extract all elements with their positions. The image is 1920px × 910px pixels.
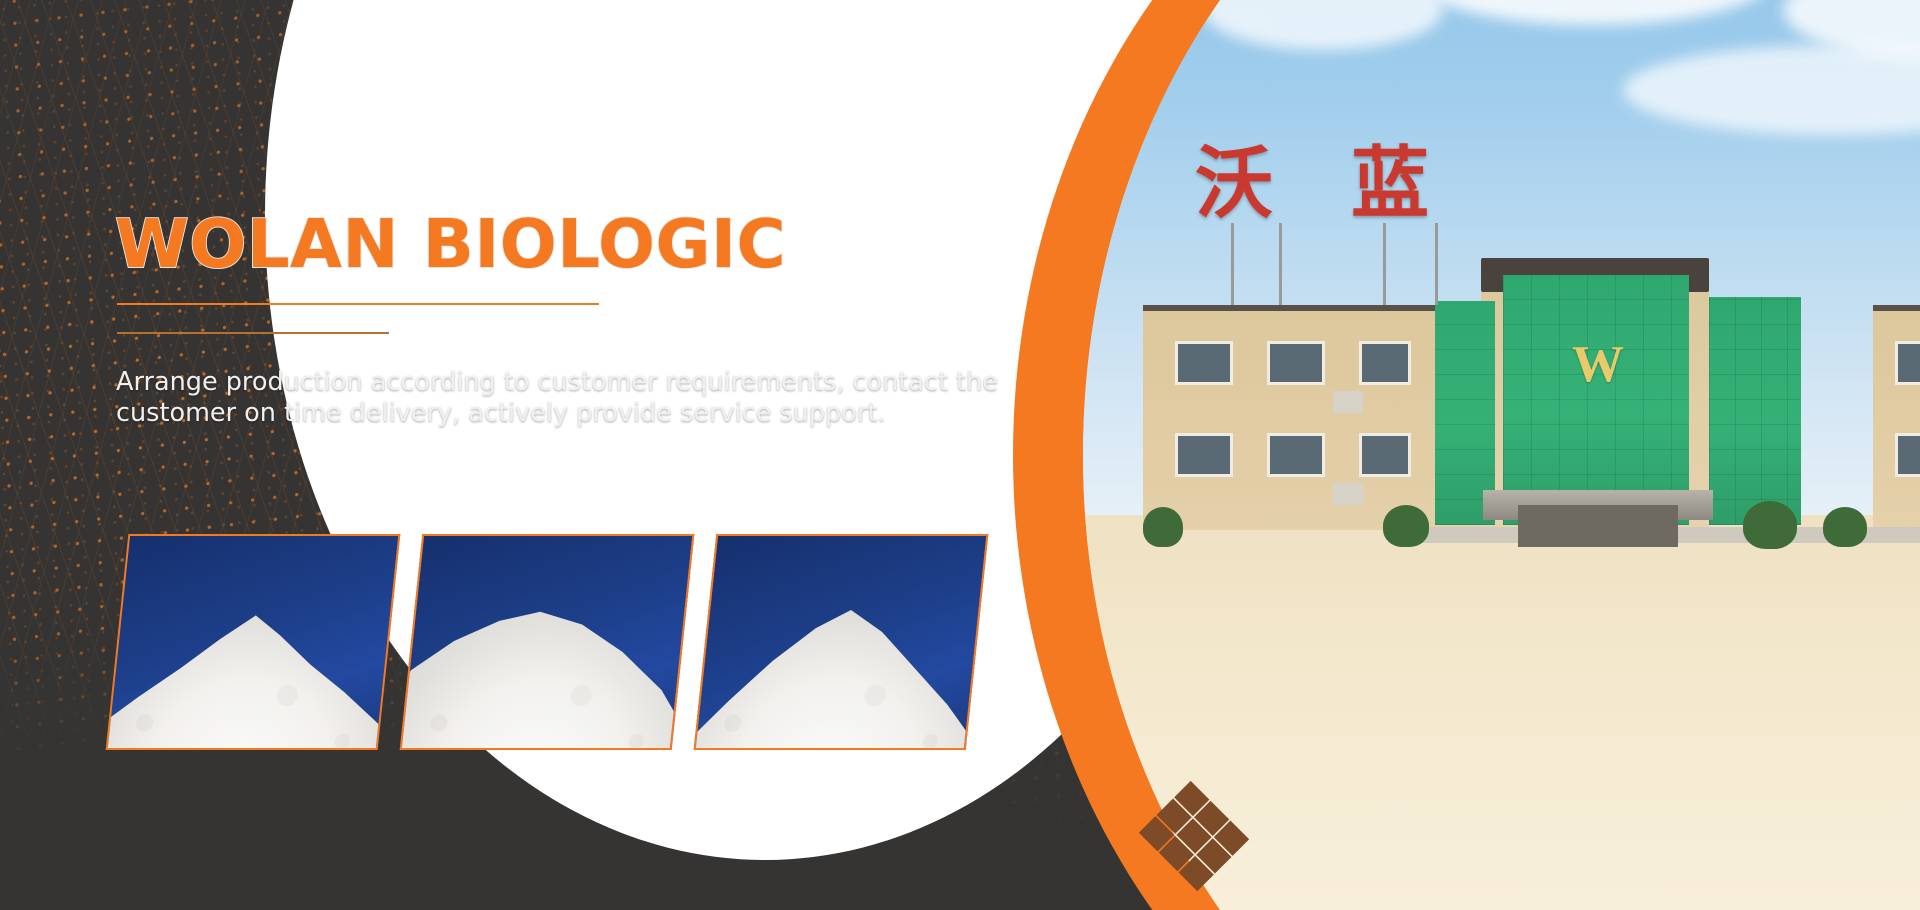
- building-window: [1175, 341, 1233, 385]
- green-glass-panel-right: [1709, 297, 1801, 525]
- banner-description: Arrange production according to customer…: [116, 367, 1036, 429]
- factory-building-photo: W: [1083, 0, 1920, 910]
- cloud-icon: [1413, 0, 1773, 25]
- sign-support-post: [1383, 223, 1386, 305]
- roof-sign-character-wo: 沃: [1195, 145, 1273, 223]
- air-conditioner-unit: [1333, 391, 1363, 413]
- photo-sky: W: [1083, 0, 1920, 910]
- building-window: [1175, 433, 1233, 477]
- building-window: [1895, 433, 1920, 477]
- cloud-icon: [1623, 45, 1920, 135]
- shrub-icon: [1383, 505, 1429, 547]
- banner-content: WOLAN BIOLOGIC WOLAN BIOLOGIC Arrange pr…: [0, 0, 1100, 910]
- product-thumbnail-3[interactable]: [694, 534, 989, 750]
- facade-logo: W: [1553, 335, 1643, 403]
- page-title: WOLAN BIOLOGIC: [115, 205, 786, 283]
- air-conditioner-unit: [1333, 483, 1363, 505]
- sign-support-post: [1435, 223, 1438, 305]
- product-thumbnail-1[interactable]: [106, 534, 401, 750]
- divider-primary: [117, 303, 599, 305]
- divider-secondary: [117, 332, 389, 334]
- product-thumbnail-list: [117, 534, 977, 750]
- entrance-door: [1518, 505, 1678, 547]
- sign-support-post: [1279, 223, 1282, 305]
- promo-banner: W: [0, 0, 1920, 910]
- building-left-wing: [1143, 305, 1483, 530]
- building-window: [1267, 433, 1325, 477]
- roof-sign-character-lan: 蓝: [1351, 145, 1429, 223]
- building-window: [1267, 341, 1325, 385]
- building-window: [1359, 433, 1411, 477]
- cloud-icon: [1203, 0, 1443, 50]
- shrub-icon: [1743, 501, 1797, 549]
- building-window: [1895, 341, 1920, 385]
- shrub-icon: [1143, 507, 1183, 547]
- sign-support-post: [1231, 223, 1234, 305]
- building-window: [1359, 341, 1411, 385]
- building-right-wing: [1873, 305, 1920, 530]
- shrub-icon: [1823, 507, 1867, 547]
- product-thumbnail-2[interactable]: [400, 534, 695, 750]
